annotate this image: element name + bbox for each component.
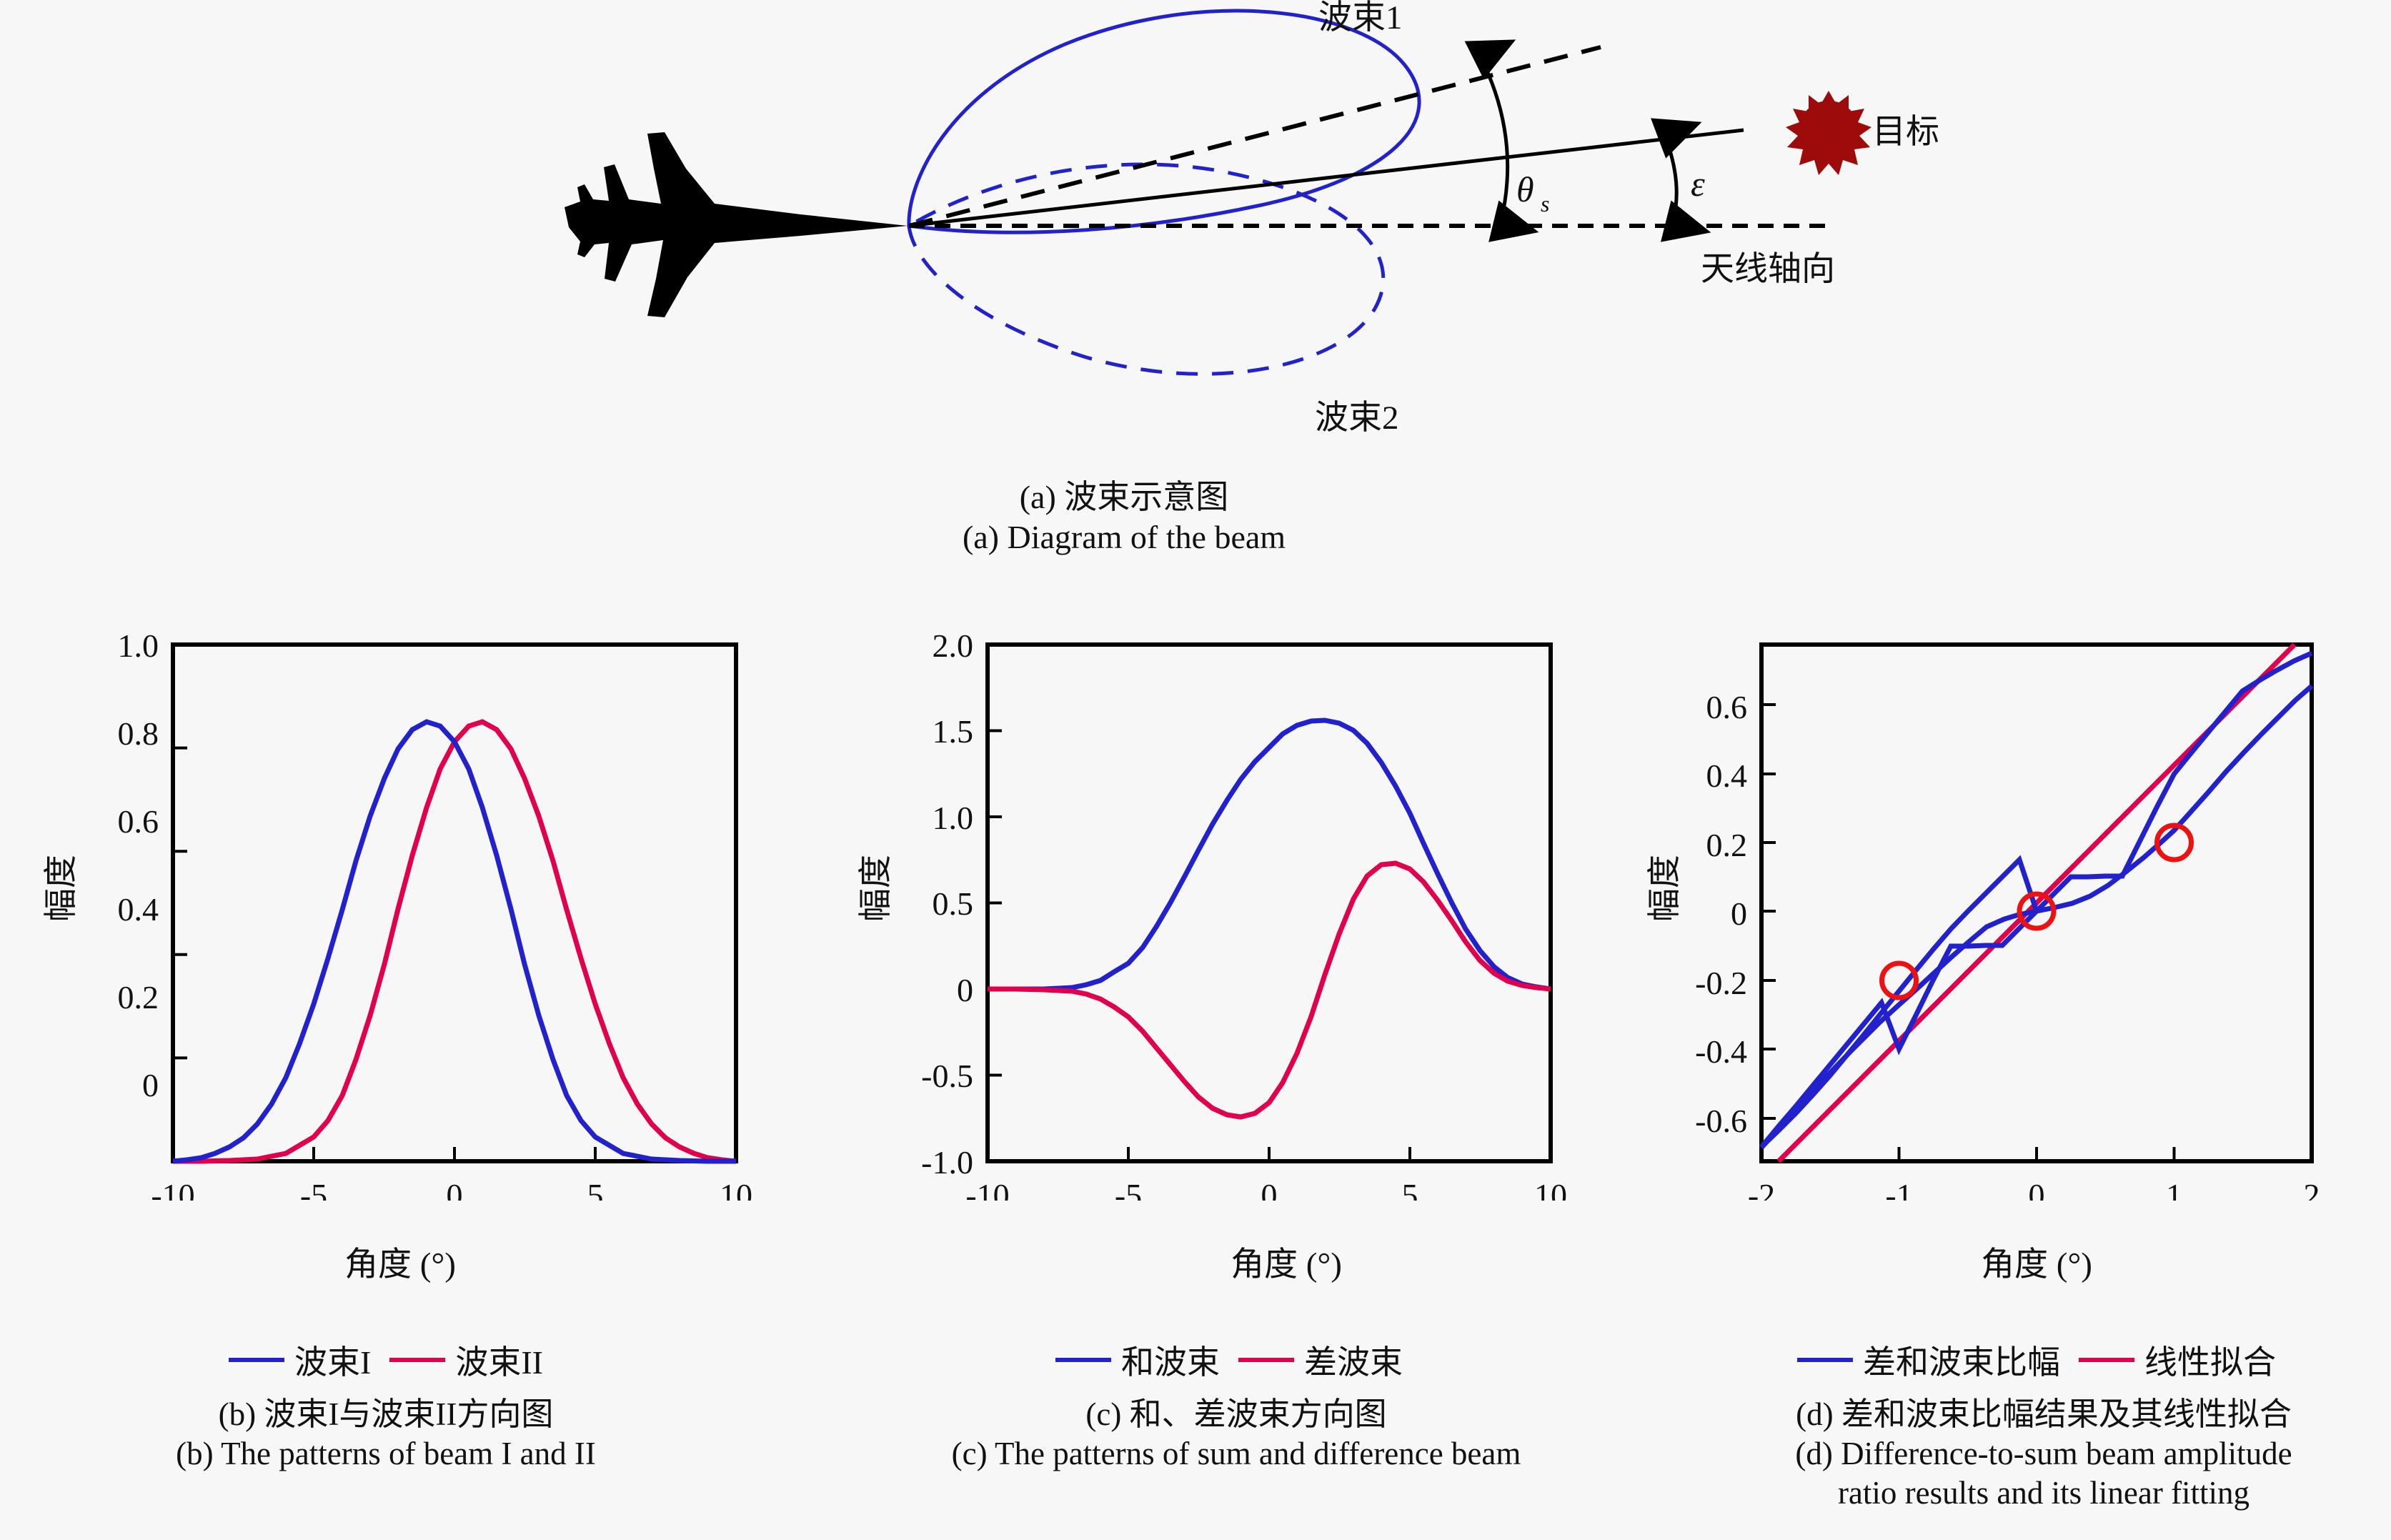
y-tick-label: -0.5 (921, 1058, 973, 1094)
caption-c-cn: (c) 和、差波束方向图 (879, 1395, 1594, 1434)
y-tick-label: 1.0 (933, 800, 974, 836)
figure-root: 波束1 波束2 目标 天线轴向 θ s ε (a) 波束示意图 (a) Diag… (0, 0, 2391, 1540)
y-tick-label: 2.0 (933, 627, 974, 664)
y-tick-label: 1.5 (933, 713, 974, 750)
x-tick-label: 5 (587, 1177, 604, 1201)
legend-item-linear-fit: 线性拟合 (2079, 1336, 2276, 1383)
legend-swatch-red (389, 1358, 445, 1362)
panel-d-xlabel: 角度 (°) (1922, 1236, 2151, 1286)
y-tick-label: -1.0 (921, 1144, 973, 1181)
x-tick-label: 0 (2029, 1177, 2045, 1201)
beam2-label: 波束2 (1315, 399, 1399, 437)
theta-s-arc (1481, 57, 1508, 223)
series-beam2-curve (173, 722, 736, 1161)
antenna-axis-label: 天线轴向 (1701, 251, 1835, 288)
y-tick-label: 0 (142, 1067, 159, 1103)
panel-b-ylabel: 幅度 (33, 855, 82, 922)
caption-b-en: (b) The patterns of beam I and II (100, 1434, 672, 1474)
caption-b-cn: (b) 波束I与波束II方向图 (100, 1395, 672, 1434)
caption-c-en: (c) The patterns of sum and difference b… (879, 1434, 1594, 1474)
caption-panel-d: (d) 差和波束比幅结果及其线性拟合 (d) Difference-to-sum… (1701, 1395, 2387, 1513)
legend-label: 差和波束比幅 (1863, 1336, 2060, 1383)
legend-label: 波束I (294, 1336, 371, 1383)
x-tick-label: 10 (720, 1177, 752, 1201)
beam1-lobe (909, 11, 1419, 232)
panel-c-legend: 和波束 差波束 (1015, 1336, 1443, 1383)
x-tick-label: 5 (1402, 1177, 1418, 1201)
y-tick-label: 0.5 (933, 885, 974, 922)
legend-item-difference-beam: 差波束 (1238, 1336, 1403, 1383)
y-tick-label: -0.6 (1695, 1103, 1747, 1139)
y-tick-label: 0.4 (1706, 757, 1748, 794)
beam2-lobe (909, 164, 1383, 374)
x-tick-label: -2 (1748, 1177, 1775, 1201)
series-ratio-curve-main (1761, 686, 2312, 1148)
caption-d-en-2: ratio results and its linear fitting (1701, 1474, 2387, 1513)
series-beam1-curve (173, 722, 736, 1161)
theta-s-subscript: s (1541, 191, 1549, 217)
legend-label: 线性拟合 (2144, 1336, 2276, 1383)
beam1-label: 波束1 (1318, 0, 1403, 36)
panel-d-ylabel: 幅度 (1636, 855, 1686, 922)
x-tick-label: -1 (1885, 1177, 1912, 1201)
y-tick-label: 1.0 (118, 627, 159, 664)
caption-panel-c: (c) 和、差波束方向图 (c) The patterns of sum and… (879, 1395, 1594, 1474)
legend-item-beam2: 波束II (389, 1336, 543, 1383)
x-tick-label: -5 (300, 1177, 327, 1201)
caption-panel-b: (b) 波束I与波束II方向图 (b) The patterns of beam… (100, 1395, 672, 1474)
x-tick-label: 10 (1534, 1177, 1567, 1201)
epsilon-label: ε (1691, 164, 1705, 204)
caption-a-en: (a) Diagram of the beam (838, 517, 1410, 557)
caption-d-en-1: (d) Difference-to-sum beam amplitude (1701, 1434, 2387, 1474)
panel-b-xlabel: 角度 (°) (286, 1236, 515, 1286)
x-tick-label: 1 (2166, 1177, 2182, 1201)
series-difference-beam-curve (988, 863, 1551, 1117)
caption-d-cn: (d) 差和波束比幅结果及其线性拟合 (1701, 1395, 2387, 1434)
theta-s-label: θ (1516, 169, 1534, 209)
y-tick-label: -0.2 (1695, 965, 1747, 1001)
y-tick-label: 0.6 (1706, 689, 1748, 725)
y-tick-label: 0.2 (118, 979, 159, 1015)
y-tick-label: 0 (957, 972, 973, 1008)
legend-swatch-blue (229, 1358, 284, 1362)
x-tick-label: 2 (2304, 1177, 2320, 1201)
y-tick-label: 0 (1731, 895, 1747, 932)
legend-label: 和波束 (1121, 1336, 1220, 1383)
caption-a-cn: (a) 波束示意图 (838, 477, 1410, 517)
legend-swatch-blue (1797, 1358, 1853, 1362)
panel-b-legend: 波束I 波束II (172, 1336, 600, 1383)
legend-item-beam1: 波束I (229, 1336, 371, 1383)
legend-swatch-red (1238, 1358, 1294, 1362)
plot-frame (173, 645, 736, 1161)
x-tick-label: 0 (1261, 1177, 1278, 1201)
panel-c-ylabel: 幅度 (847, 855, 897, 922)
panel-c-chart: 2.0 1.5 1.0 0.5 0 -0.5 -1.0 -10 -5 0 5 1… (800, 615, 1644, 1201)
panel-b-chart: 1.0 0.8 0.6 0.4 0.2 0 -10 -5 0 5 10 (0, 615, 786, 1201)
x-tick-label: -5 (1115, 1177, 1142, 1201)
legend-item-ratio: 差和波束比幅 (1797, 1336, 2060, 1383)
y-tick-label: -0.4 (1695, 1033, 1747, 1070)
aircraft-icon (565, 132, 908, 317)
x-tick-label: -10 (151, 1177, 194, 1201)
x-tick-label: 0 (447, 1177, 463, 1201)
legend-label: 差波束 (1304, 1336, 1403, 1383)
panel-d-chart: 0.6 0.4 0.2 0 -0.2 -0.4 -0.6 -2 -1 0 1 2 (1572, 615, 2391, 1201)
legend-item-sum-beam: 和波束 (1055, 1336, 1220, 1383)
y-tick-label: 0.8 (118, 715, 159, 752)
plot-frame (988, 645, 1551, 1161)
panel-a-diagram: 波束1 波束2 目标 天线轴向 θ s ε (0, 0, 2391, 472)
epsilon-arc (1665, 136, 1676, 223)
y-tick-label: 0.2 (1706, 827, 1748, 863)
legend-swatch-red (2079, 1358, 2134, 1362)
legend-label: 波束II (455, 1336, 543, 1383)
legend-swatch-blue (1055, 1358, 1111, 1362)
x-tick-label: -10 (965, 1177, 1009, 1201)
panel-c-xlabel: 角度 (°) (1172, 1236, 1401, 1286)
target-icon (1786, 91, 1871, 175)
panel-d-legend: 差和波束比幅 线性拟合 (1751, 1336, 2322, 1383)
y-tick-label: 0.6 (118, 803, 159, 840)
series-sum-beam-curve (988, 720, 1551, 989)
caption-panel-a: (a) 波束示意图 (a) Diagram of the beam (838, 477, 1410, 557)
y-tick-label: 0.4 (118, 891, 159, 928)
beam-pointing-line (909, 47, 1601, 226)
target-label: 目标 (1872, 114, 1939, 151)
